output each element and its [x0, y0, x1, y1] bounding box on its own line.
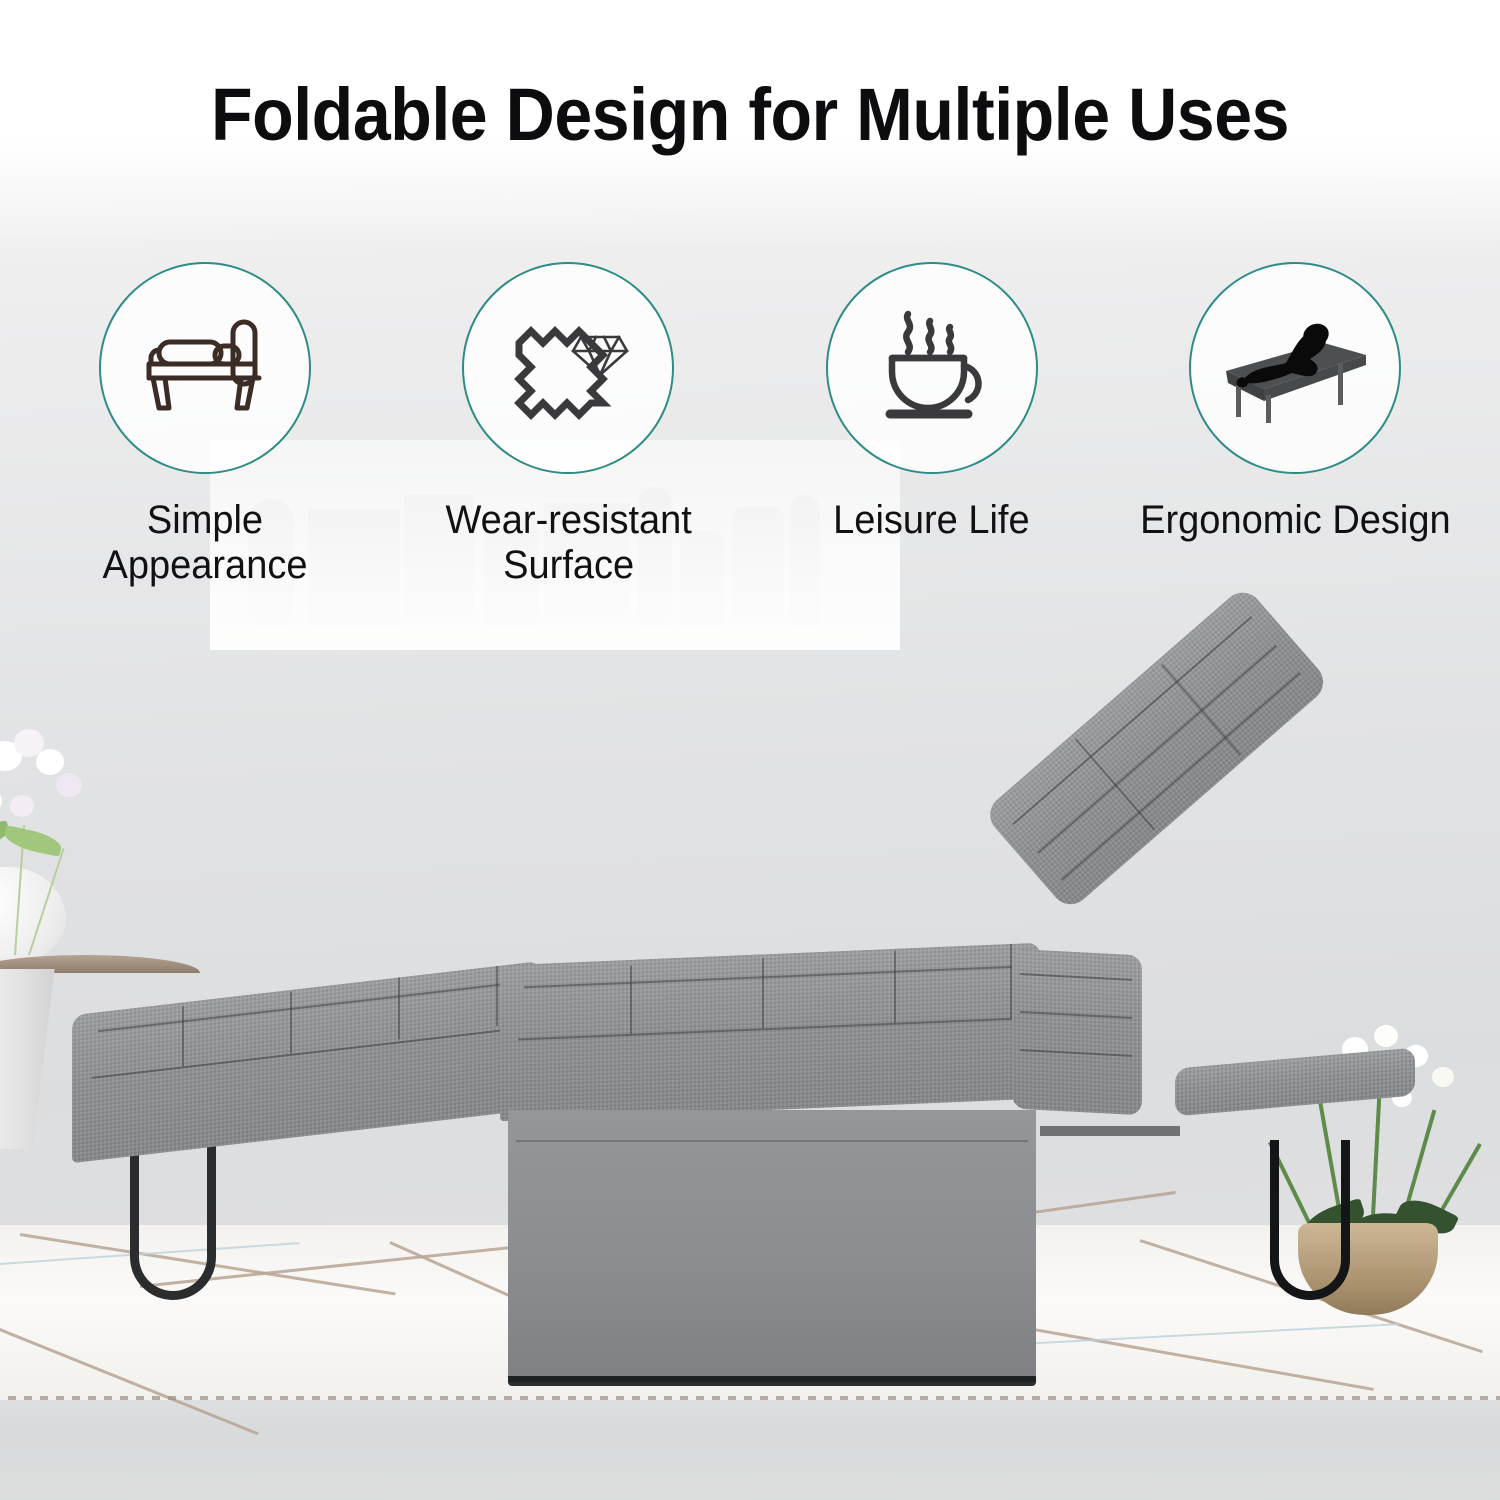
fabric-swatch-diamond-icon — [503, 307, 633, 429]
feature-label: Ergonomic Design — [1140, 498, 1450, 543]
sofa-leg-left — [130, 1130, 216, 1300]
feature-item-leisure-life: Leisure Life — [757, 262, 1107, 588]
marketing-infographic: Foldable Design for Multiple Uses — [0, 0, 1500, 1500]
feature-icon-circle — [99, 262, 311, 474]
person-reclining-icon — [1220, 309, 1370, 427]
mattress-section-middle — [500, 943, 1040, 1122]
feature-icon-circle — [462, 262, 674, 474]
feature-label: Leisure Life — [833, 498, 1029, 543]
feature-label: Simple Appearance — [48, 498, 362, 588]
folding-sofa-bed — [0, 740, 1500, 1440]
headline-block: Foldable Design for Multiple Uses — [0, 72, 1500, 157]
feature-item-ergonomic-design: Ergonomic Design — [1120, 262, 1470, 588]
skirt-shadow — [508, 1376, 1036, 1386]
front-skirt-panel — [508, 1110, 1036, 1382]
sofa-leg-right — [1270, 1140, 1350, 1300]
seat-extension-cushion — [1175, 1048, 1415, 1117]
feature-item-simple-appearance: Simple Appearance — [30, 262, 380, 588]
bed-icon — [141, 316, 269, 420]
coffee-cup-icon — [868, 306, 996, 430]
feature-icon-circle — [1189, 262, 1401, 474]
feature-item-wear-resistant-surface: Wear-resistant Surface — [393, 262, 743, 588]
skirt-stitch — [516, 1140, 1028, 1142]
feature-label: Wear-resistant Surface — [445, 498, 691, 588]
feature-icon-circle — [826, 262, 1038, 474]
under-seat-shadow — [1040, 1126, 1180, 1136]
hinge-bolster — [1012, 949, 1142, 1116]
feature-strip: Simple Appearance — [0, 262, 1500, 588]
page-title: Foldable Design for Multiple Uses — [60, 72, 1440, 157]
mattress-section-left — [72, 961, 542, 1163]
